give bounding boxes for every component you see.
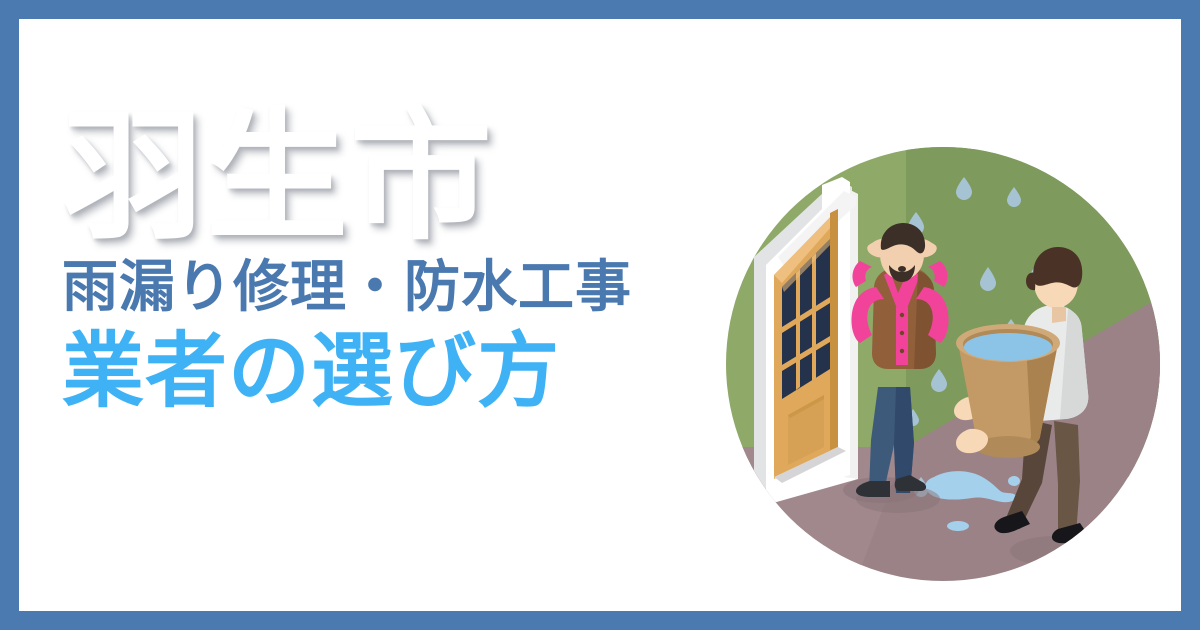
glass-panel-door <box>754 177 858 507</box>
subtitle-howto: 業者の選び方 <box>62 331 722 413</box>
banner-inner-card: 羽生市 雨漏り修理・防水工事 業者の選び方 <box>19 19 1181 611</box>
banner-root: 羽生市 雨漏り修理・防水工事 業者の選び方 <box>0 0 1200 630</box>
subtitle-service: 雨漏り修理・防水工事 <box>62 259 722 315</box>
headline-text-block: 羽生市 雨漏り修理・防水工事 業者の選び方 <box>62 107 722 413</box>
roof-leak-illustration <box>726 147 1160 581</box>
illustration-svg <box>726 147 1160 581</box>
page-title-city: 羽生市 <box>62 107 722 249</box>
